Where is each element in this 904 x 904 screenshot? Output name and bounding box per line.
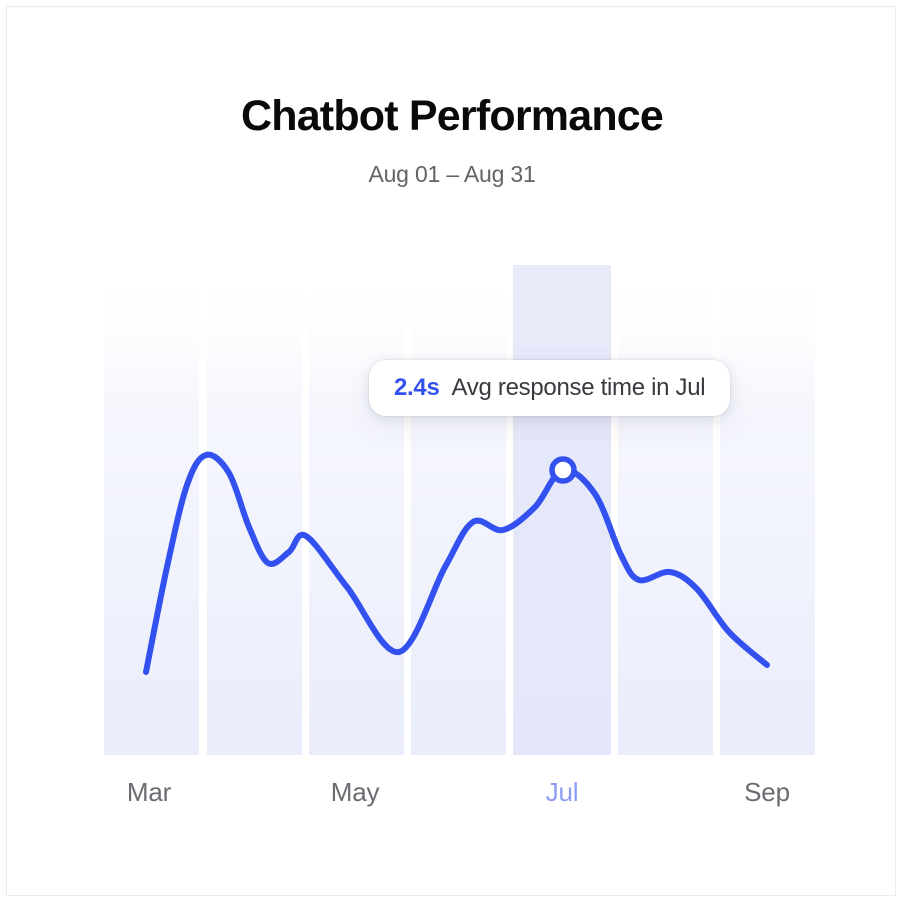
tooltip-value: 2.4s (394, 376, 440, 400)
line-chart-plot-area[interactable] (98, 259, 826, 759)
x-axis-ticks: MarMayJulSep (98, 779, 826, 821)
chart-header: Chatbot Performance Aug 01 – Aug 31 (7, 7, 896, 186)
chart-svg (98, 259, 826, 759)
background-band (618, 265, 713, 755)
x-axis-tick-mar[interactable]: Mar (127, 779, 171, 805)
chart-card: Chatbot Performance Aug 01 – Aug 31 (6, 6, 896, 896)
background-bands (104, 265, 815, 755)
date-range-subtitle: Aug 01 – Aug 31 (7, 138, 896, 186)
x-axis-tick-jul[interactable]: Jul (546, 779, 579, 805)
background-band (207, 265, 302, 755)
tooltip-label: Avg response time in Jul (452, 376, 706, 400)
chart-tooltip: 2.4s Avg response time in Jul (369, 360, 730, 416)
background-band (720, 265, 815, 755)
x-axis-tick-may[interactable]: May (331, 779, 380, 805)
background-band (411, 265, 506, 755)
page-title: Chatbot Performance (7, 7, 896, 138)
background-band (309, 265, 404, 755)
highlight-marker[interactable] (552, 459, 574, 481)
x-axis-tick-sep[interactable]: Sep (744, 779, 790, 805)
background-band (104, 265, 199, 755)
data-point-marker[interactable] (552, 459, 574, 481)
